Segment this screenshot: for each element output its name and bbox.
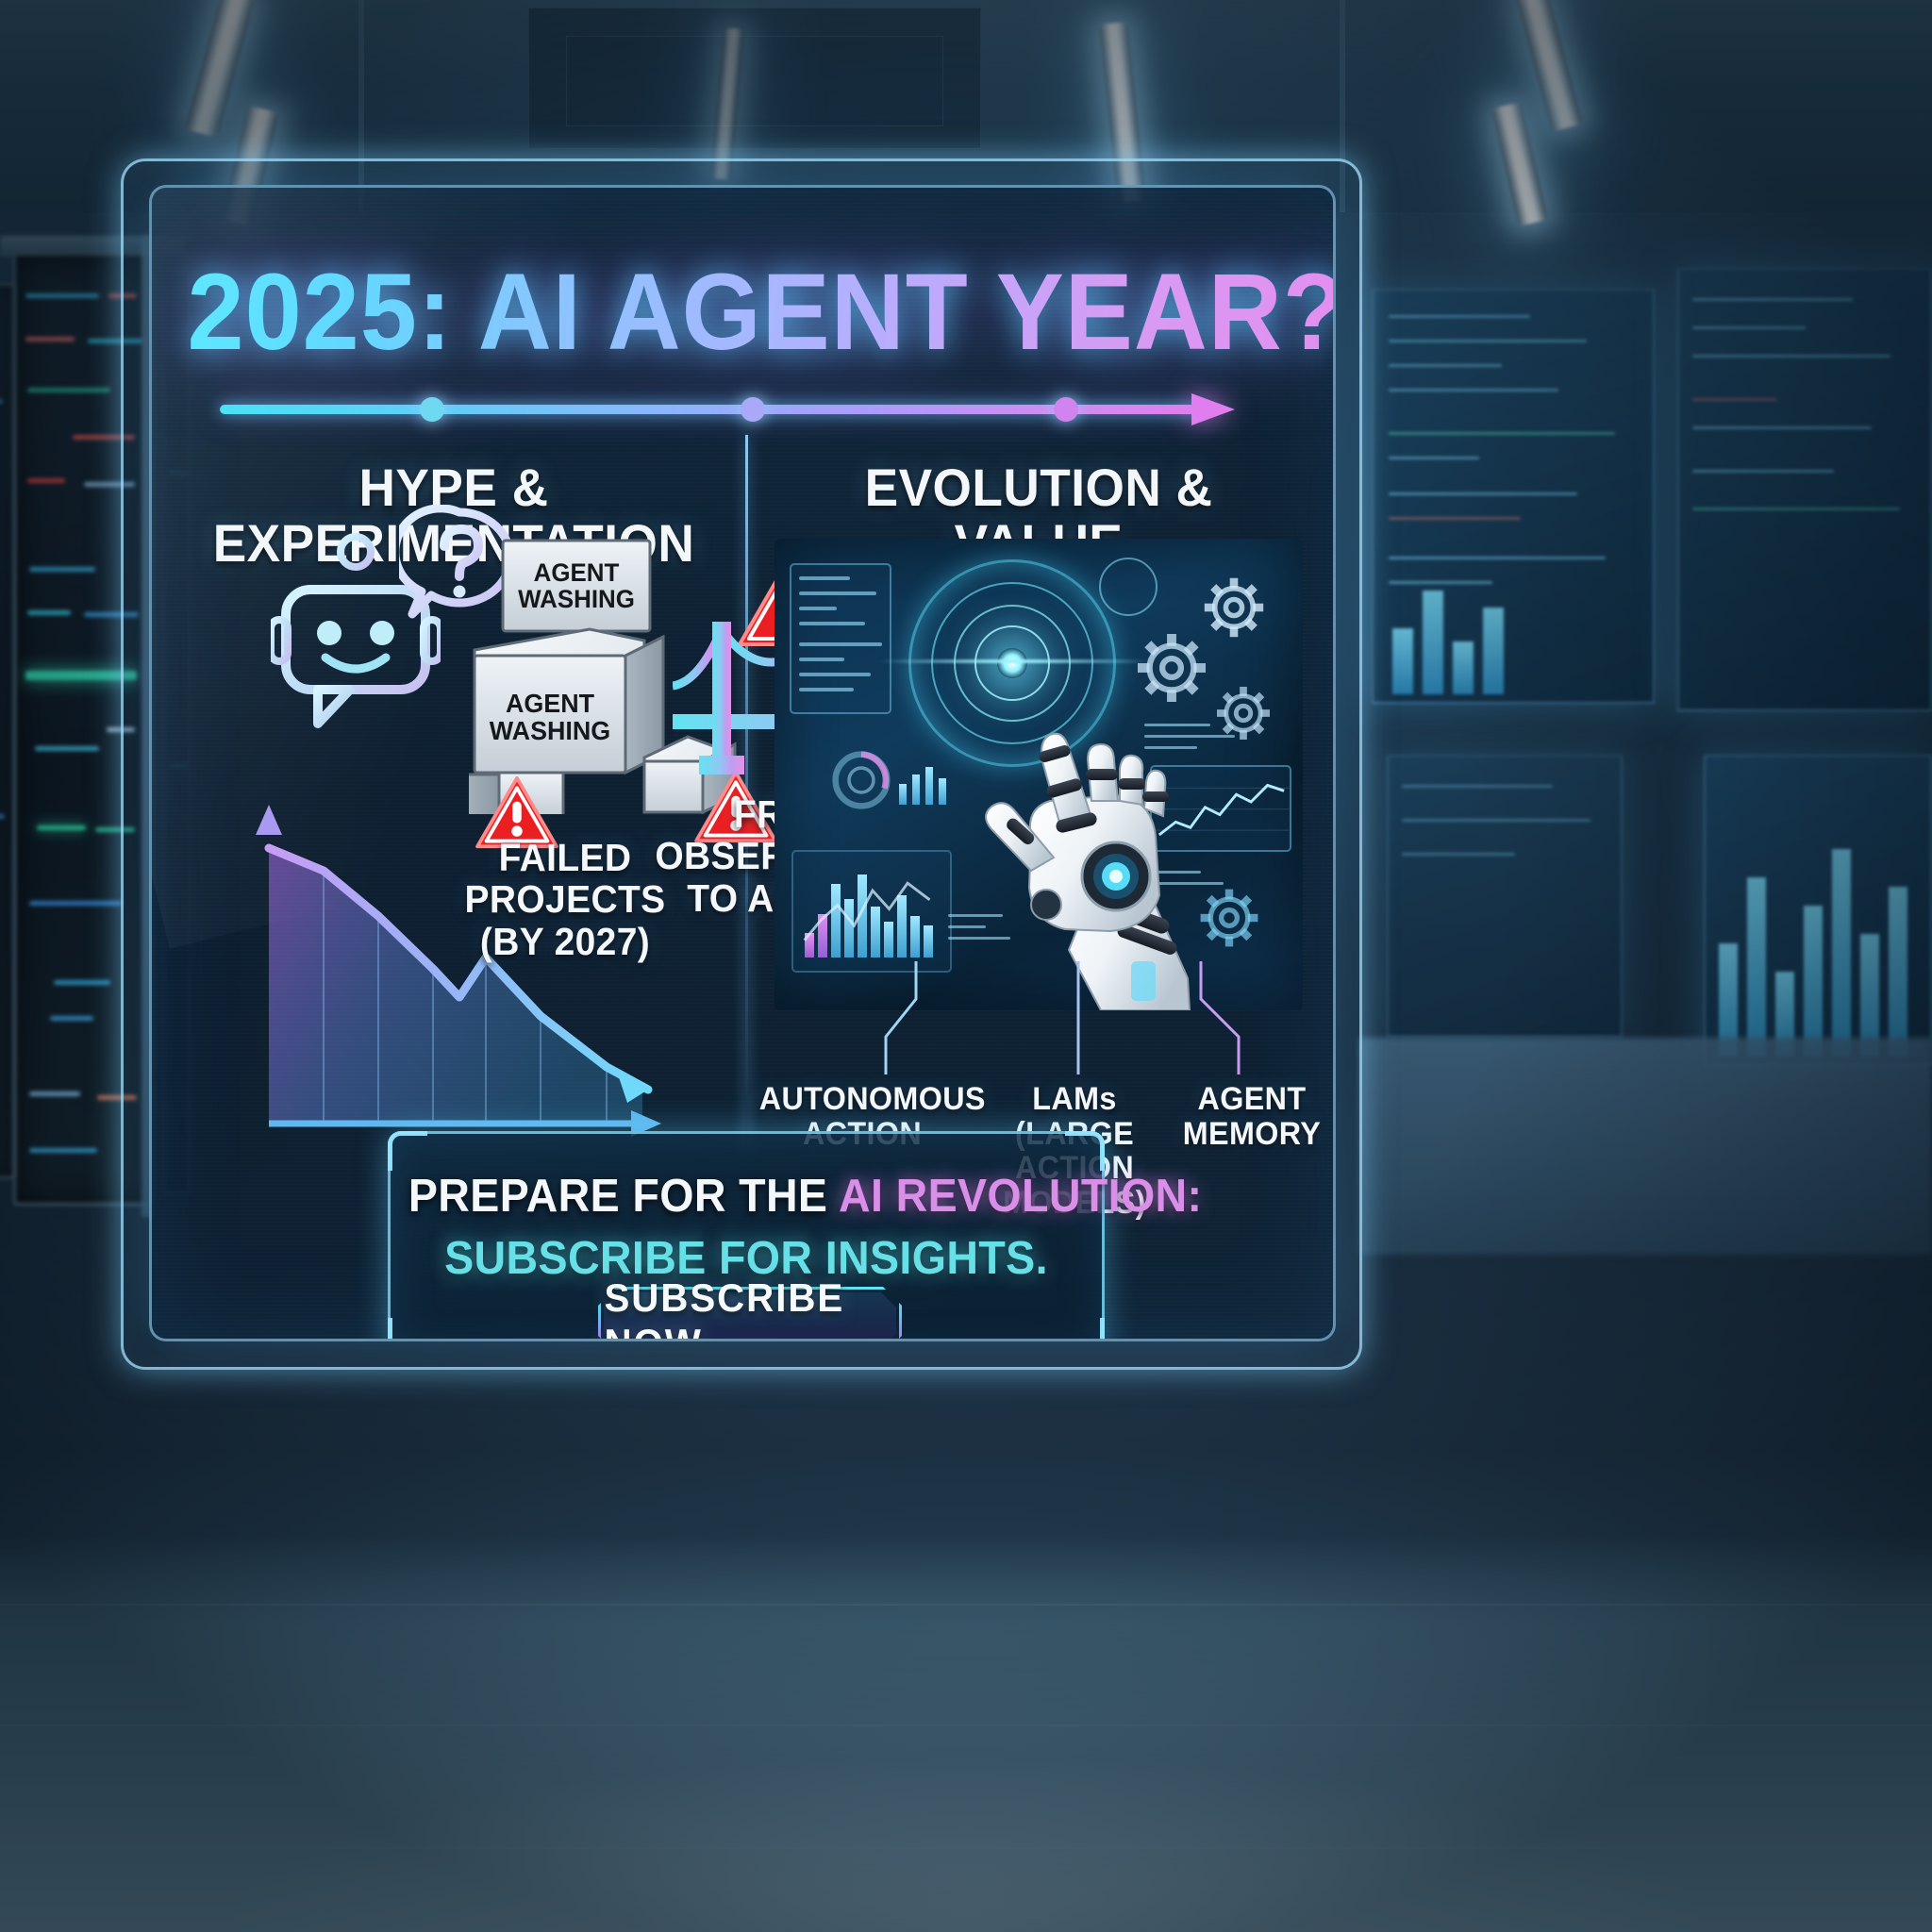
timeline <box>220 388 1271 431</box>
hud-gauge-icon <box>827 746 895 814</box>
feature-2-line1: AGENT <box>1173 1082 1330 1117</box>
cta-headline: PREPARE FOR THE AI REVOLUTION: <box>408 1170 1084 1223</box>
cta-corner-br <box>1065 1318 1105 1341</box>
feature-0-line1: AUTONOMOUS <box>759 1082 966 1117</box>
robotic-hand <box>950 658 1233 1010</box>
agent-washing-label-top: AGENT WASHING <box>506 541 647 631</box>
cta-corner-tr <box>1065 1131 1105 1171</box>
feature-1-line1: LAMs <box>974 1082 1175 1117</box>
timeline-dot <box>741 397 765 422</box>
cta-headline-accent: AI REVOLUTION: <box>839 1171 1202 1222</box>
hud-bar-chart <box>791 850 952 973</box>
ai-hand-hud-visual <box>774 539 1303 1010</box>
timeline-dot <box>1054 397 1078 422</box>
cta-corner-tl <box>388 1131 427 1171</box>
infographic-root: 2025: AI AGENT YEAR? HYPE & EXPERIMENTAT… <box>0 0 1932 1932</box>
timeline-bar <box>220 405 1199 414</box>
cta-headline-white: PREPARE FOR THE <box>408 1171 839 1222</box>
feature-label-agent-memory: AGENT MEMORY <box>1173 1082 1330 1151</box>
feature-2-line2: MEMORY <box>1173 1117 1330 1152</box>
console-desk <box>1358 1038 1932 1255</box>
cta-corner-bl <box>388 1318 427 1341</box>
page-title-text: 2025: AI AGENT YEAR? <box>188 252 1336 373</box>
feature-leader-lines <box>774 961 1312 1093</box>
agent-washing-label-bottom: AGENT WASHING <box>477 676 623 758</box>
neural-node-icon <box>1099 558 1158 616</box>
wall-monitor <box>1372 289 1655 704</box>
timeline-arrow-icon <box>1191 393 1235 425</box>
page-title: 2025: AI AGENT YEAR? <box>188 250 1298 375</box>
wall-monitor <box>1704 755 1932 1066</box>
floor-reflection <box>0 1536 1932 1932</box>
caption-line2: (BY 2027) <box>411 921 720 962</box>
wall-monitor <box>1387 755 1623 1038</box>
cta-banner: PREPARE FOR THE AI REVOLUTION: SUBSCRIBE… <box>388 1131 1105 1341</box>
hologram-panel: 2025: AI AGENT YEAR? HYPE & EXPERIMENTAT… <box>149 185 1336 1341</box>
subscribe-button-label[interactable]: SUBSCRIBE NOW <box>604 1287 895 1341</box>
hud-code-panel <box>790 563 891 714</box>
timeline-dot <box>420 397 444 422</box>
wall-monitor <box>1677 268 1932 711</box>
server-rack <box>0 283 15 1179</box>
